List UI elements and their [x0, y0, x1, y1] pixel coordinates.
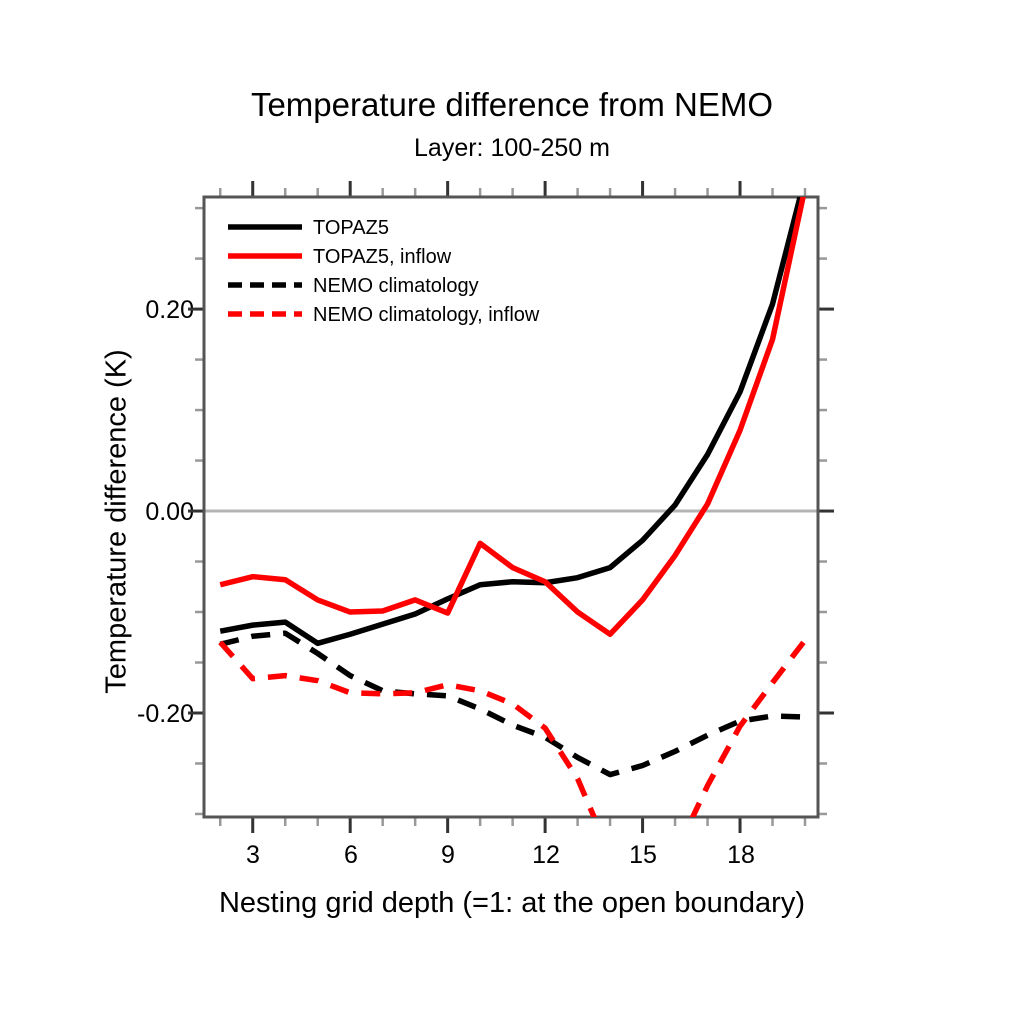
plot-frame [204, 197, 818, 817]
series-line-1 [220, 188, 805, 634]
series-line-3 [220, 640, 805, 894]
axis-minor-ticks [195, 188, 827, 826]
chart-figure: Temperature difference from NEMO Layer: … [0, 0, 1024, 1024]
legend-keys [228, 227, 302, 314]
series-paths [220, 178, 805, 895]
series-line-0 [220, 178, 805, 644]
series-line-2 [220, 633, 805, 774]
chart-plot-area [0, 0, 1024, 1024]
